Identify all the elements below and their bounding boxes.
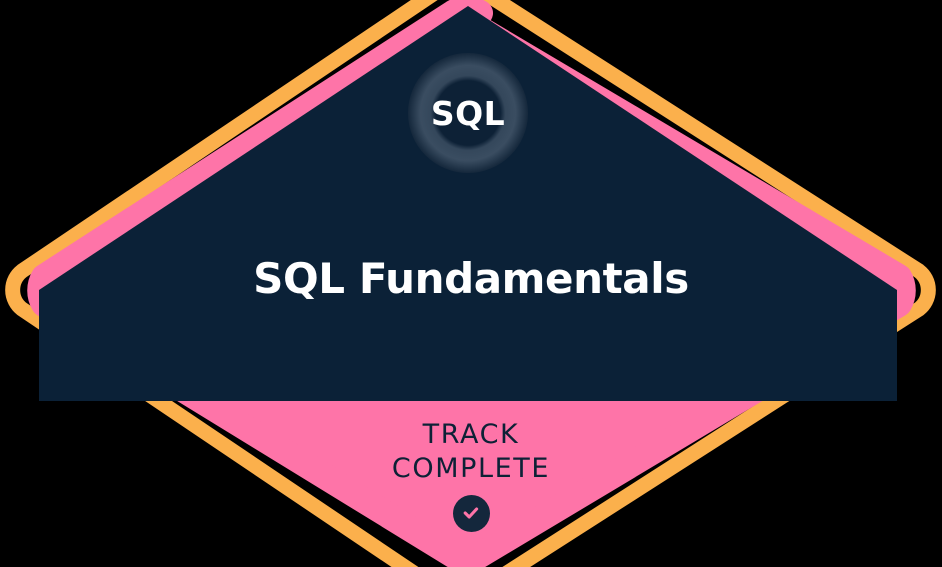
sql-ring-icon: SQL: [408, 53, 528, 173]
status-line-one: TRACK: [0, 418, 942, 452]
check-mark-glyph: [460, 502, 482, 524]
track-completion-badge: SQL SQL Fundamentals TRACK COMPLETE: [0, 0, 942, 567]
track-title: SQL Fundamentals: [0, 256, 942, 302]
track-status-block: TRACK COMPLETE: [0, 418, 942, 532]
check-circle-icon: [453, 495, 490, 532]
status-line-two: COMPLETE: [0, 452, 942, 486]
sql-badge-label: SQL: [431, 97, 505, 130]
